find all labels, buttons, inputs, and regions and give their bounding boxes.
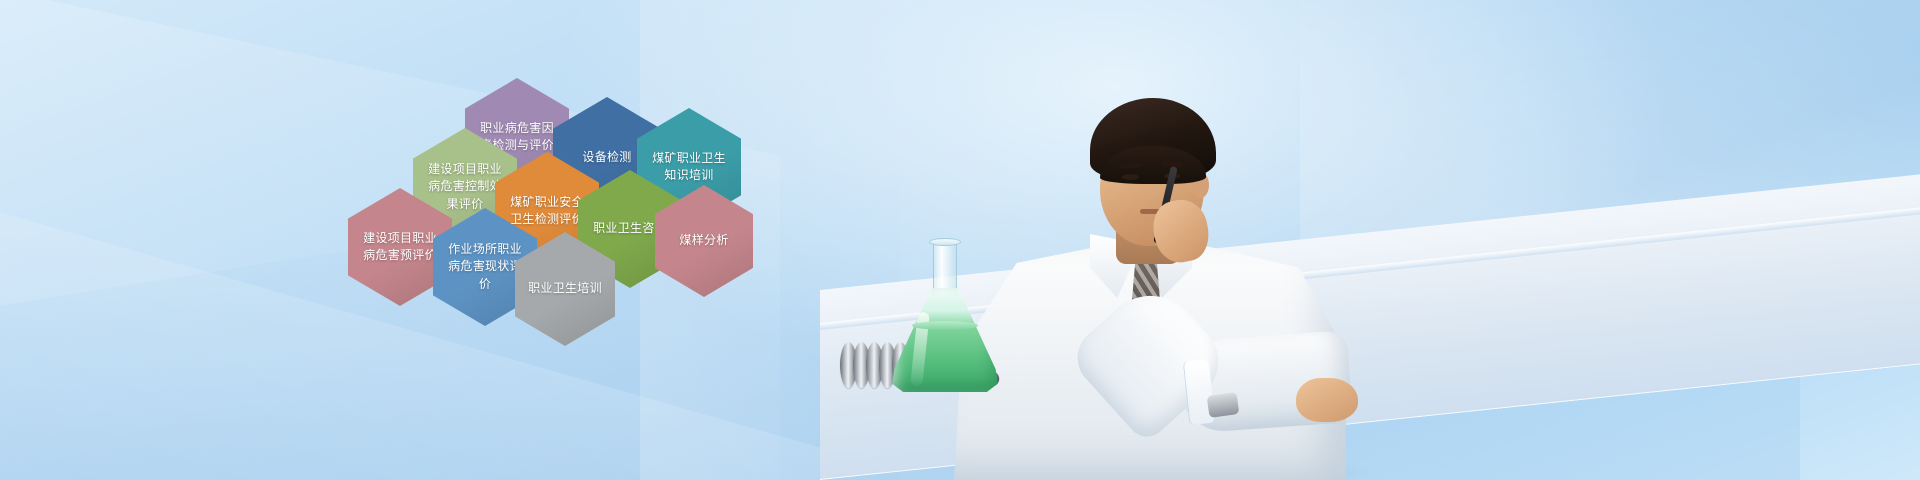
hex-label: 建设项目职业病危害控制效果评价 xyxy=(425,161,505,212)
flask-neck xyxy=(933,242,957,296)
service-hexagon-cluster: 职业病危害因素检测与评价设备检测煤矿职业卫生知识培训建设项目职业病危害控制效果评… xyxy=(0,0,820,400)
hex-label: 作业场所职业病危害现状评价 xyxy=(445,241,525,292)
hex-label: 煤矿职业安全卫生检测评价 xyxy=(507,194,587,228)
hex-label: 煤矿职业卫生知识培训 xyxy=(649,150,729,184)
erlenmeyer-flask xyxy=(890,242,1000,392)
flask-body xyxy=(890,288,1000,392)
wristwatch xyxy=(1207,392,1240,418)
flask-lip xyxy=(929,238,961,246)
hex-label: 职业卫生培训 xyxy=(527,280,603,297)
hex-label: 建设项目职业病危害预评价 xyxy=(360,230,440,264)
person-illustration xyxy=(940,60,1360,480)
person-resting-hand xyxy=(1296,378,1358,422)
flask-liquid-surface xyxy=(912,321,978,330)
hex-label: 设备检测 xyxy=(565,149,649,166)
hex-label: 煤样分析 xyxy=(667,232,741,249)
hero-banner: 职业病危害因素检测与评价设备检测煤矿职业卫生知识培训建设项目职业病危害控制效果评… xyxy=(0,0,1920,480)
person-eye-left xyxy=(1122,174,1139,180)
